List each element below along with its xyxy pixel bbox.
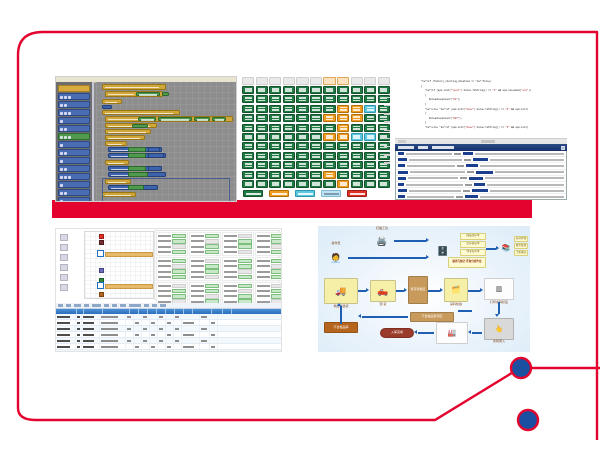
table-cell[interactable] [134,350,142,351]
table-cell[interactable] [126,344,134,349]
matrix-cell-green[interactable] [378,171,390,179]
matrix-cell-green[interactable] [296,171,308,179]
form-card[interactable] [189,257,221,281]
matrix-cell-green[interactable] [269,124,281,132]
matrix-cell-green[interactable] [242,152,254,160]
table-cell[interactable] [56,350,76,351]
table-cell[interactable] [126,350,134,351]
matrix-cell-orange[interactable] [337,105,349,113]
form-card[interactable] [156,257,188,281]
matrix-cell-green[interactable] [351,152,363,160]
table-cell[interactable] [100,350,126,351]
table-cell[interactable] [56,344,76,349]
rail-icon[interactable] [60,234,68,241]
matrix-cell-green[interactable] [283,171,295,179]
matrix-cell-green[interactable] [242,161,254,169]
matrix-cell-green[interactable] [296,180,308,188]
matrix-cell-green[interactable] [310,161,322,169]
table-cell[interactable] [126,326,134,331]
form-card[interactable] [255,257,282,281]
matrix-cell-green[interactable] [283,105,295,113]
block-group-header[interactable] [105,141,127,146]
matrix-cell-green[interactable] [242,86,254,94]
matrix-cell-green[interactable] [283,180,295,188]
block-statement[interactable] [105,129,151,134]
block-arg-green[interactable] [138,117,156,122]
matrix-cell-green[interactable] [269,86,281,94]
block-comment[interactable] [102,110,180,115]
matrix-cell-green[interactable] [269,95,281,103]
tab-item-active[interactable] [481,140,495,143]
sidecard-3[interactable]: 作业任务单 [460,249,486,256]
code-text-area[interactable]: "kw">if (factory_starting_disabled == "k… [395,76,567,138]
matrix-cell-orange[interactable] [323,114,335,122]
matrix-cell-green[interactable] [256,180,268,188]
table-cell[interactable] [200,320,210,325]
rightcard-2[interactable]: 账务处理 [514,243,528,249]
block-arg-blue[interactable] [148,153,164,157]
planning-workbook-panel[interactable] [55,228,282,352]
matrix-cell-green[interactable] [351,86,363,94]
block-arg-green[interactable] [128,147,146,151]
matrix-cell-green[interactable] [269,105,281,113]
table-row[interactable] [56,350,281,351]
matrix-cell-green[interactable] [269,180,281,188]
form-row [191,250,219,254]
matrix-cell-green[interactable] [242,95,254,103]
form-card[interactable] [222,232,254,256]
table-cell[interactable] [56,314,76,319]
table-cell[interactable] [158,314,166,319]
table-cell[interactable] [210,314,218,319]
matrix-cell-green[interactable] [256,95,268,103]
gantt-chart[interactable] [84,231,154,299]
matrix-cell-green[interactable] [296,152,308,160]
table-cell[interactable] [142,326,150,331]
table-cell[interactable] [182,314,200,319]
rightcard-1[interactable]: 库存查询 [514,236,528,242]
matrix-cell-green[interactable] [256,86,268,94]
matrix-cell-green[interactable] [242,105,254,113]
block-arg-blue[interactable] [148,166,162,170]
form-card[interactable] [255,232,282,256]
table-cell[interactable] [142,332,150,337]
matrix-cell-green[interactable] [269,161,281,169]
table-cell[interactable] [134,338,142,343]
arrow-terminal-to-archive [486,248,496,250]
matrix-cell-green[interactable] [364,171,376,179]
matrix-cell-green[interactable] [323,124,335,132]
gantt-milestone[interactable] [99,268,104,273]
rail-icon[interactable] [60,284,68,291]
arrow-head-icon [496,246,499,250]
block-arg-green[interactable] [132,124,148,128]
matrix-col-header [310,77,322,85]
table-cell[interactable] [126,314,134,319]
gantt-selected-node[interactable] [97,250,104,257]
block-arg-green[interactable] [128,172,148,176]
matrix-cell-green[interactable] [337,161,349,169]
rail-icon[interactable] [60,264,68,271]
matrix-cell-green[interactable] [296,95,308,103]
block-value-green[interactable] [162,92,169,97]
inbound-complete-node[interactable]: 入库完成 [380,328,414,338]
matrix-cell-green[interactable] [242,124,254,132]
table-cell[interactable] [166,338,174,343]
block-arg-green[interactable] [158,117,192,122]
table-cell[interactable] [174,332,182,337]
table-cell[interactable] [150,326,158,331]
matrix-cell-green[interactable] [283,133,295,141]
matrix-cell-orange[interactable] [337,180,349,188]
table-cell[interactable] [82,338,100,343]
matrix-cell-green[interactable] [323,105,335,113]
delivery-truck-node[interactable]: 🚚 [324,278,358,304]
unloading-node[interactable]: 🛻 [370,280,396,302]
storage-cabinet-node[interactable]: 暂存待检区 [408,276,428,304]
matrix-cell-green[interactable] [310,105,322,113]
matrix-cell-green[interactable] [256,105,268,113]
table-cell[interactable] [56,338,76,343]
gantt-bar[interactable] [105,284,153,289]
table-cell[interactable] [182,350,200,351]
matrix-cell-green[interactable] [283,114,295,122]
sidecard-1[interactable]: 成品出库单 [460,233,486,240]
table-cell[interactable] [150,320,158,325]
table-cell[interactable] [200,332,210,337]
matrix-cell-orange[interactable] [337,124,349,132]
matrix-cell-green[interactable] [351,161,363,169]
table-cell[interactable] [126,320,134,325]
workbook-data-table[interactable] [56,303,281,351]
matrix-cell-green[interactable] [323,95,335,103]
table-cell[interactable] [134,314,142,319]
matrix-cell-green[interactable] [283,161,295,169]
matrix-cell-green[interactable] [323,161,335,169]
close-icon[interactable]: × [561,146,565,150]
cell-value [159,340,163,342]
table-cell[interactable] [166,344,174,349]
table-cell[interactable] [174,314,182,319]
matrix-cell-green[interactable] [364,86,376,94]
rail-icon[interactable] [60,274,68,281]
table-cell[interactable] [182,326,200,331]
table-cell[interactable] [174,320,182,325]
block-arg-green[interactable] [212,117,226,122]
matrix-cell-green[interactable] [310,86,322,94]
table-cell[interactable] [210,344,218,349]
matrix-cell-green[interactable] [378,180,390,188]
matrix-cell-green[interactable] [242,114,254,122]
rail-icon[interactable] [60,254,68,261]
barcode-print-node[interactable]: ▥ [484,278,514,300]
matrix-cell-green[interactable] [310,95,322,103]
table-cell[interactable] [158,326,166,331]
blocks-editor-panel[interactable] [55,76,237,202]
matrix-cell-green[interactable] [351,142,363,150]
table-cell[interactable] [210,332,218,337]
table-cell[interactable] [82,326,100,331]
table-cell[interactable] [158,338,166,343]
putaway-node[interactable]: 🏭 [436,322,468,344]
gantt-milestone[interactable] [99,234,104,239]
gantt-selected-node[interactable] [97,282,104,289]
matrix-cell-cyan[interactable] [351,133,363,141]
table-cell[interactable] [82,332,100,337]
palette-block[interactable] [58,85,90,92]
log-console-header[interactable]: × [395,144,567,151]
workbook-upper-area [56,229,281,301]
matrix-cell-green[interactable] [242,180,254,188]
table-cell[interactable] [158,332,166,337]
table-cell[interactable] [126,338,134,343]
table-cell[interactable] [100,344,126,349]
quality-check-node[interactable]: 🗂️ [444,278,468,302]
table-cell[interactable] [158,344,166,349]
block-arg-green[interactable] [128,153,146,157]
table-cell[interactable] [174,338,182,343]
table-cell[interactable] [100,320,126,325]
table-cell[interactable] [210,326,218,331]
log-row[interactable] [396,194,566,200]
matrix-cell-green[interactable] [310,133,322,141]
matrix-cell-green[interactable] [283,124,295,132]
form-card[interactable] [189,232,221,256]
matrix-cell-green[interactable] [296,124,308,132]
blocks-palette[interactable] [56,82,94,201]
matrix-cell-green[interactable] [364,142,376,150]
table-cell[interactable] [100,332,126,337]
block-selection-outline [102,178,230,202]
table-cell[interactable] [82,320,100,325]
workbook-side-rail[interactable] [56,231,82,301]
log-console-body[interactable] [395,151,567,200]
table-cell[interactable] [142,338,150,343]
matrix-cell-green[interactable] [296,161,308,169]
code-editor-panel[interactable]: "kw">if (factory_starting_disabled == "k… [395,76,567,200]
matrix-cell-green[interactable] [337,152,349,160]
table-cell[interactable] [56,332,76,337]
block-statement[interactable] [102,99,122,104]
table-cell[interactable] [56,320,76,325]
matrix-cell-green[interactable] [269,114,281,122]
table-cell[interactable] [210,320,218,325]
warehouse-flow-panel[interactable]: 🧑‍💼 操作员 🖨️ 扫描工位 🗄️ 成品出库单 出库拣货单 作业任务单 报表与… [318,226,530,352]
matrix-cell-green[interactable] [351,180,363,188]
matrix-cell-green[interactable] [323,142,335,150]
table-cell[interactable] [166,326,174,331]
table-cell[interactable] [200,338,210,343]
matrix-cell-green[interactable] [351,124,363,132]
matrix-grid[interactable] [242,86,390,188]
matrix-cell-orange[interactable] [351,105,363,113]
matrix-cell-green[interactable] [364,124,376,132]
gantt-milestone[interactable] [99,240,104,245]
table-cell[interactable] [182,344,200,349]
block-arg-blue[interactable] [148,147,160,151]
workbook-form-grid[interactable] [154,230,280,300]
matrix-cell-green[interactable] [323,152,335,160]
matrix-cell-green[interactable] [351,171,363,179]
matrix-cell-green[interactable] [269,142,281,150]
matrix-cell-green[interactable] [242,133,254,141]
reject-area-node[interactable]: 不合格品暂存区 [410,312,454,322]
matrix-cell-green[interactable] [310,142,322,150]
block-group-header[interactable] [105,160,129,165]
table-cell[interactable] [200,350,210,351]
matrix-cell-green[interactable] [269,171,281,179]
table-cell[interactable] [166,320,174,325]
table-cell[interactable] [174,350,182,351]
table-cell[interactable] [142,344,150,349]
table-cell[interactable] [142,320,150,325]
matrix-cell-cyan[interactable] [364,105,376,113]
matrix-cell-green[interactable] [256,114,268,122]
table-cell[interactable] [200,344,210,349]
table-cell[interactable] [100,326,126,331]
table-cell[interactable] [82,344,100,349]
matrix-cell-green[interactable] [364,180,376,188]
table-cell[interactable] [174,344,182,349]
table-cell[interactable] [210,338,218,343]
matrix-cell-green[interactable] [323,86,335,94]
table-cell[interactable] [158,320,166,325]
matrix-cell-green[interactable] [310,124,322,132]
matrix-cell-green[interactable] [256,152,268,160]
blocks-canvas[interactable] [96,82,236,201]
table-cell[interactable] [166,314,174,319]
matrix-cell-green[interactable] [256,142,268,150]
legend-cyan [295,190,315,197]
table-cell[interactable] [126,332,134,337]
table-cell[interactable] [182,332,200,337]
table-cell[interactable] [210,350,218,351]
table-cell[interactable] [150,332,158,337]
block-value-green[interactable] [136,92,160,97]
tab-item[interactable] [398,140,406,143]
block-statement[interactable] [105,135,145,140]
table-column-header[interactable] [223,309,232,314]
matrix-cell-green[interactable] [364,95,376,103]
matrix-cell-green[interactable] [364,114,376,122]
table-cell[interactable] [142,350,150,351]
sidecard-4[interactable]: 报表与统计 查询分析作业 [448,257,486,268]
rail-icon[interactable] [60,244,68,251]
barcode-scan-node[interactable]: 👆 [484,318,514,340]
gantt-milestone[interactable] [99,292,104,297]
matrix-cell-green[interactable] [256,124,268,132]
table-cell[interactable] [150,338,158,343]
table-cell[interactable] [200,314,210,319]
matrix-cell-green[interactable] [364,161,376,169]
matrix-cell-green[interactable] [242,142,254,150]
block-arg-green[interactable] [194,117,210,122]
matrix-cell-green[interactable] [310,171,322,179]
table-cell[interactable] [158,350,166,351]
form-row [224,239,252,243]
table-body[interactable] [56,314,281,351]
block-arg-green[interactable] [128,166,146,170]
matrix-cell-green[interactable] [296,86,308,94]
matrix-cell-green[interactable] [283,152,295,160]
matrix-cell-green[interactable] [269,152,281,160]
matrix-cell-green[interactable] [256,133,268,141]
table-cell[interactable] [82,314,100,319]
table-cell[interactable] [134,332,142,337]
table-cell[interactable] [200,326,210,331]
table-cell[interactable] [100,314,126,319]
matrix-cell-green[interactable] [310,180,322,188]
form-card[interactable] [156,232,188,256]
table-cell[interactable] [174,326,182,331]
table-cell[interactable] [56,326,76,331]
matrix-cell-green[interactable] [337,95,349,103]
matrix-col-header [351,77,363,85]
matrix-cell-green[interactable] [256,161,268,169]
block-logic[interactable] [102,105,112,109]
matrix-cell-orange[interactable] [351,114,363,122]
sidecard-2[interactable]: 出库拣货单 [460,241,486,248]
block-statement[interactable] [105,123,157,128]
cell-value [167,346,171,348]
matrix-cell-green[interactable] [296,114,308,122]
table-cell[interactable] [142,314,150,319]
matrix-cell-orange[interactable] [323,133,335,141]
table-cell[interactable] [134,344,142,349]
matrix-cell-green[interactable] [296,105,308,113]
form-card[interactable] [222,257,254,281]
matrix-cell-green[interactable] [283,86,295,94]
matrix-cell-green[interactable] [283,142,295,150]
legend-orange [269,190,289,197]
table-cell[interactable] [182,320,200,325]
matrix-cell-green[interactable] [323,180,335,188]
table-cell[interactable] [182,338,200,343]
matrix-cell-green[interactable] [364,152,376,160]
rightcard-3[interactable]: 上架确认 [514,250,528,256]
matrix-cell-green[interactable] [310,152,322,160]
matrix-cell-green[interactable] [283,95,295,103]
form-row [257,294,282,298]
table-cell[interactable] [150,344,158,349]
table-cell[interactable] [100,338,126,343]
matrix-cell-green[interactable] [242,171,254,179]
matrix-cell-green[interactable] [337,142,349,150]
table-cell[interactable] [134,326,142,331]
matrix-cell-green[interactable] [337,86,349,94]
matrix-cell-cyan[interactable] [364,133,376,141]
table-cell[interactable] [166,332,174,337]
matrix-cell-green[interactable] [296,142,308,150]
matrix-cell-orange[interactable] [337,114,349,122]
table-cell[interactable] [82,350,100,351]
matrix-cell-green[interactable] [351,95,363,103]
table-cell[interactable] [166,350,174,351]
matrix-cell-orange[interactable] [337,133,349,141]
table-cell[interactable] [150,314,158,319]
matrix-cell-green[interactable] [337,171,349,179]
matrix-cell-green[interactable] [269,133,281,141]
matrix-cell-green[interactable] [310,114,322,122]
matrix-cell-green[interactable] [296,133,308,141]
table-cell[interactable] [134,320,142,325]
status-matrix-panel[interactable] [240,76,390,200]
block-event-header[interactable] [102,84,166,90]
matrix-cell-orange[interactable] [323,171,335,179]
table-cell[interactable] [150,350,158,351]
gantt-bar[interactable] [105,252,153,257]
matrix-cell-green[interactable] [256,171,268,179]
